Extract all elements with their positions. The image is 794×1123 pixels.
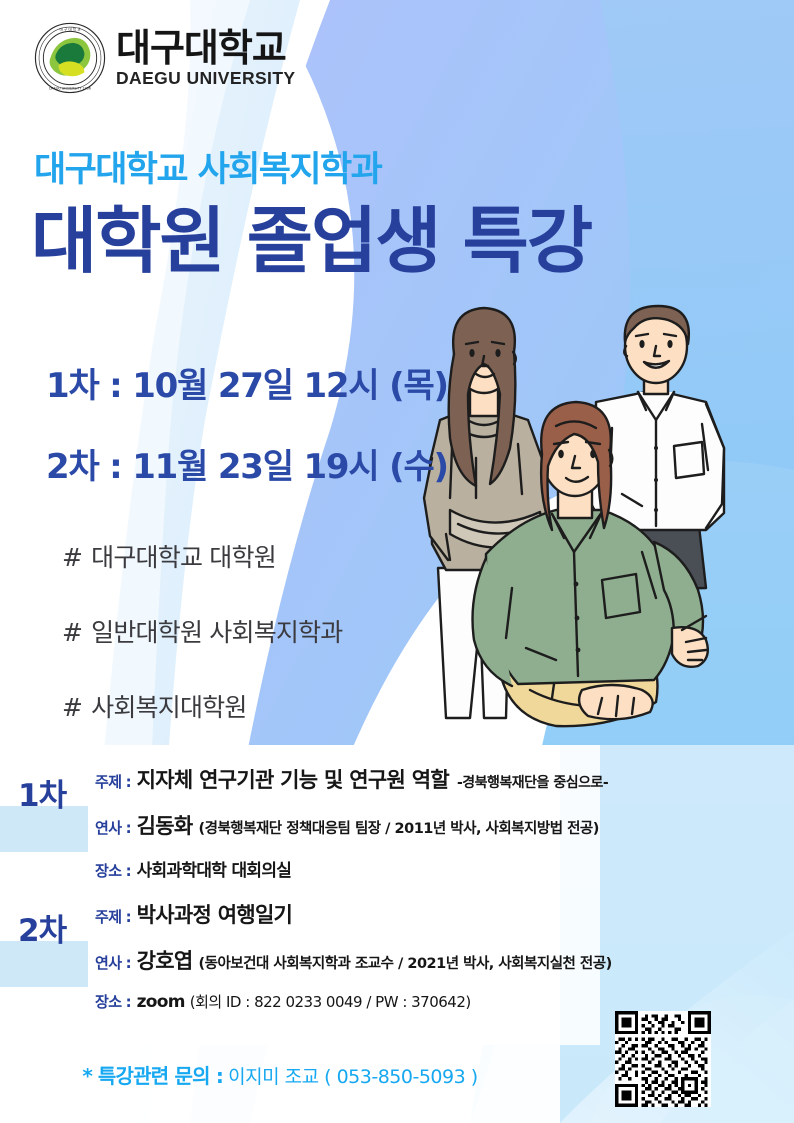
seal-icon: 대 구 대 학 교 DAEGU UNIVERSITY 1956 (34, 22, 106, 94)
colon: : (126, 908, 132, 926)
session-dates: 1차 : 10월 27일 12시 (목) 2차 : 11월 23일 19시 (수… (46, 358, 448, 520)
poster-canvas: 대 구 대 학 교 DAEGU UNIVERSITY 1956 대구대학교 DA… (0, 0, 794, 1123)
session-place-row: 장소 : zoom (회의 ID : 822 0233 0049 / PW : … (95, 991, 794, 1012)
colon: : (126, 819, 132, 837)
place-label: 장소 (95, 991, 122, 1012)
hash-symbol: # (62, 543, 82, 572)
hash-symbol: # (62, 693, 82, 722)
hashtag-label: 일반대학원 사회복지학과 (91, 618, 342, 647)
university-logo: 대 구 대 학 교 DAEGU UNIVERSITY 1956 대구대학교 DA… (34, 22, 295, 94)
hashtag-item: #일반대학원 사회복지학과 (62, 613, 343, 649)
students-illustration (406, 298, 778, 760)
speaker-affiliation: (경북행복재단 정책대응팀 팀장 / 2011년 박사, 사회복지방법 전공) (198, 817, 598, 838)
place-label: 장소 (95, 860, 122, 881)
session-number: 1차 (18, 770, 66, 815)
topic-value: 박사과정 여행일기 (137, 899, 293, 929)
asterisk-icon: * (82, 1064, 92, 1088)
session-speaker-row: 연사 : 김동화 (경북행복재단 정책대응팀 팀장 / 2011년 박사, 사회… (95, 810, 794, 840)
session-block-1: 1차 주제 : 지자체 연구기관 기능 및 연구원 역할 -경북행복재단을 중심… (0, 762, 794, 881)
session-block-2: 2차 주제 : 박사과정 여행일기 연사 : 강호엽 (동아보건대 사회복지학과… (0, 897, 794, 1012)
poster-subtitle: 대구대학교 사회복지학과 (34, 141, 381, 192)
date-line-1: 1차 : 10월 27일 12시 (목) (46, 358, 448, 407)
contact-value: 이지미 조교 ( 053-850-5093 ) (228, 1066, 477, 1088)
contact-label: 특강관련 문의 : (98, 1064, 223, 1088)
place-value: zoom (137, 992, 185, 1012)
colon: : (126, 954, 132, 972)
hashtag-item: #대구대학교 대학원 (62, 538, 343, 574)
session-place-row: 장소 : 사회과학대학 대회의실 (95, 856, 794, 881)
hashtag-label: 대구대학교 대학원 (91, 543, 276, 572)
topic-value: 지자체 연구기관 기능 및 연구원 역할 (137, 764, 449, 794)
speaker-affiliation: (동아보건대 사회복지학과 조교수 / 2021년 박사, 사회복지실천 전공) (198, 952, 611, 973)
session-details: 1차 주제 : 지자체 연구기관 기능 및 연구원 역할 -경북행복재단을 중심… (0, 762, 794, 1028)
session-speaker-row: 연사 : 강호엽 (동아보건대 사회복지학과 조교수 / 2021년 박사, 사… (95, 945, 794, 975)
qr-code[interactable] (615, 1011, 711, 1107)
place-detail: (회의 ID : 822 0233 0049 / PW : 370642) (190, 991, 471, 1012)
session-topic-row: 주제 : 박사과정 여행일기 (95, 899, 794, 929)
hashtag-list: #대구대학교 대학원 #일반대학원 사회복지학과 #사회복지대학원 (62, 538, 343, 763)
hash-symbol: # (62, 618, 82, 647)
speaker-label: 연사 (95, 952, 122, 973)
speaker-name: 김동화 (137, 810, 193, 840)
topic-note: -경북행복재단을 중심으로- (457, 772, 608, 792)
colon: : (126, 773, 132, 791)
speaker-name: 강호엽 (137, 945, 193, 975)
colon: : (126, 993, 132, 1011)
contact-footer: * 특강관련 문의 : 이지미 조교 ( 053-850-5093 ) (0, 1060, 560, 1089)
poster-title: 대학원 졸업생 특강 (31, 200, 591, 283)
session-number: 2차 (18, 905, 66, 950)
date-line-2: 2차 : 11월 23일 19시 (수) (46, 439, 448, 488)
colon: : (126, 862, 132, 880)
place-value: 사회과학대학 대회의실 (137, 856, 292, 881)
hashtag-label: 사회복지대학원 (91, 693, 246, 722)
topic-label: 주제 (95, 771, 122, 792)
topic-label: 주제 (95, 906, 122, 927)
logo-english-text: DAEGU UNIVERSITY (116, 70, 295, 88)
logo-korean-text: 대구대학교 (116, 29, 295, 67)
speaker-label: 연사 (95, 817, 122, 838)
hashtag-item: #사회복지대학원 (62, 688, 343, 724)
session-topic-row: 주제 : 지자체 연구기관 기능 및 연구원 역할 -경북행복재단을 중심으로- (95, 764, 794, 794)
svg-text:대 구 대 학 교: 대 구 대 학 교 (59, 27, 81, 32)
svg-text:DAEGU UNIVERSITY 1956: DAEGU UNIVERSITY 1956 (49, 87, 91, 91)
